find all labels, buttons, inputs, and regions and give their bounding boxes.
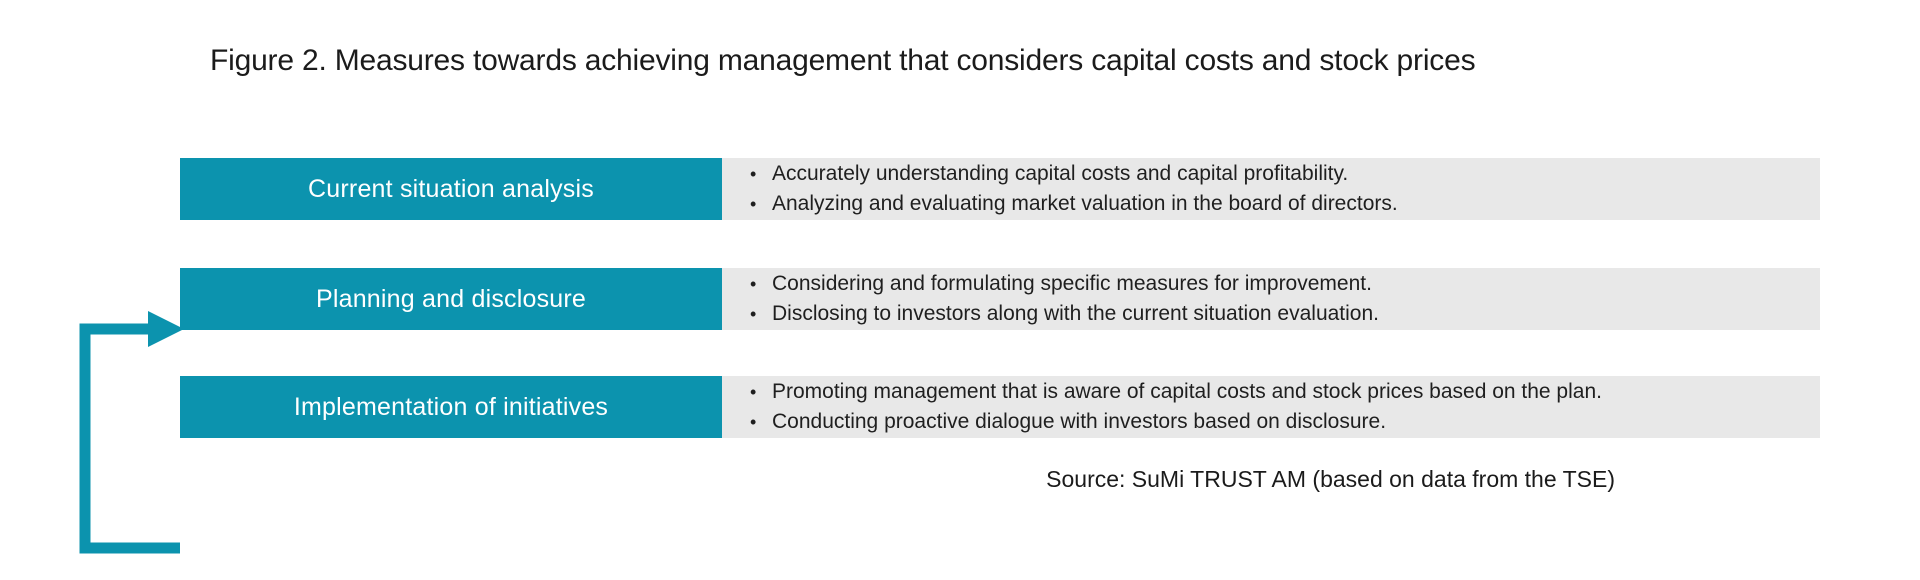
arrowhead-icon [148, 311, 184, 347]
bullet-dot-icon: • [750, 269, 772, 299]
process-diagram: Current situation analysis • Accurately … [0, 140, 1920, 440]
process-row-planning-and-disclosure: Planning and disclosure • Considering an… [180, 268, 1820, 330]
process-row-current-situation-analysis: Current situation analysis • Accurately … [180, 158, 1820, 220]
bullet-dot-icon: • [750, 159, 772, 189]
stage-box-planning-and-disclosure[interactable]: Planning and disclosure [180, 268, 722, 330]
stage-label: Current situation analysis [308, 175, 594, 204]
bullet-text: Conducting proactive dialogue with inves… [772, 407, 1386, 437]
figure-canvas: Figure 2. Measures towards achieving man… [0, 0, 1920, 540]
detail-box-planning-and-disclosure: • Considering and formulating specific m… [722, 268, 1820, 330]
bullet-text: Disclosing to investors along with the c… [772, 299, 1379, 329]
stage-label: Planning and disclosure [316, 285, 586, 314]
process-row-implementation-of-initiatives: Implementation of initiatives • Promotin… [180, 376, 1820, 438]
bullet-item: • Accurately understanding capital costs… [750, 159, 1820, 189]
feedback-loop-path [85, 329, 180, 548]
figure-title: Figure 2. Measures towards achieving man… [210, 44, 1475, 78]
detail-box-implementation-of-initiatives: • Promoting management that is aware of … [722, 376, 1820, 438]
bullet-item: • Considering and formulating specific m… [750, 269, 1820, 299]
stage-label: Implementation of initiatives [294, 393, 608, 422]
source-note: Source: SuMi TRUST AM (based on data fro… [1046, 466, 1615, 493]
bullet-dot-icon: • [750, 189, 772, 219]
bullet-item: • Conducting proactive dialogue with inv… [750, 407, 1820, 437]
bullet-dot-icon: • [750, 299, 772, 329]
bullet-text: Considering and formulating specific mea… [772, 269, 1372, 299]
bullet-dot-icon: • [750, 377, 772, 407]
stage-box-implementation-of-initiatives[interactable]: Implementation of initiatives [180, 376, 722, 438]
bullet-text: Accurately understanding capital costs a… [772, 159, 1348, 189]
detail-box-current-situation-analysis: • Accurately understanding capital costs… [722, 158, 1820, 220]
bullet-dot-icon: • [750, 407, 772, 437]
stage-box-current-situation-analysis[interactable]: Current situation analysis [180, 158, 722, 220]
bullet-item: • Analyzing and evaluating market valuat… [750, 189, 1820, 219]
bullet-item: • Disclosing to investors along with the… [750, 299, 1820, 329]
bullet-item: • Promoting management that is aware of … [750, 377, 1820, 407]
bullet-text: Promoting management that is aware of ca… [772, 377, 1602, 407]
bullet-text: Analyzing and evaluating market valuatio… [772, 189, 1398, 219]
